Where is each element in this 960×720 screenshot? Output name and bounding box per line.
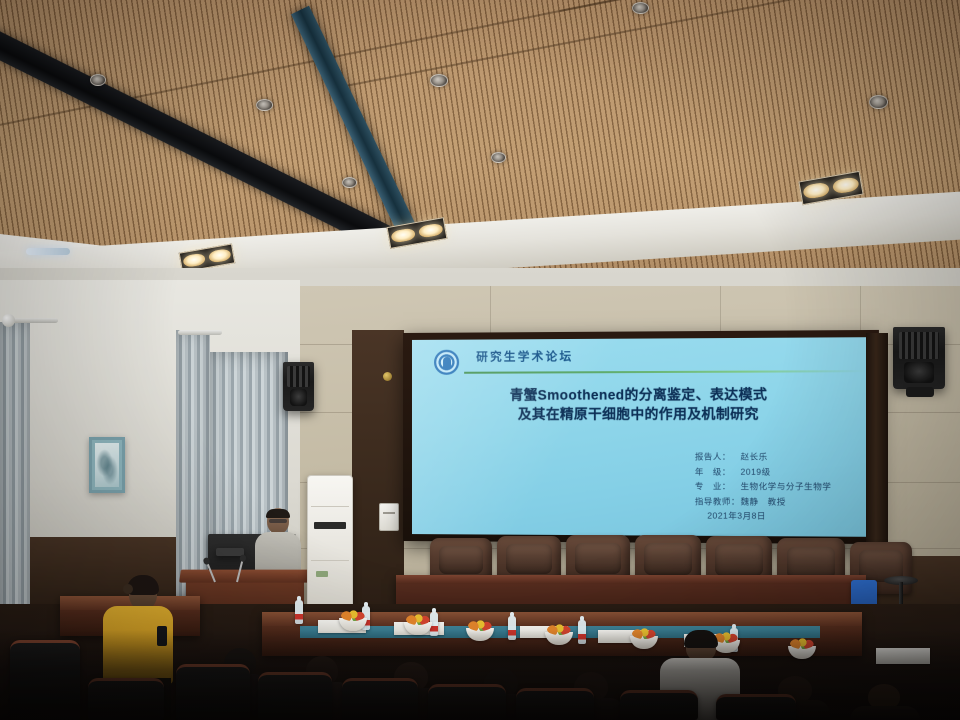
speaker-grill xyxy=(287,366,311,388)
slide-metadata: 报告人：赵长乐 年 级：2019级 专 业：生物化学与分子生物学 指导教师：魏静… xyxy=(695,450,832,525)
wood-slat-ceiling xyxy=(0,0,960,300)
slide-title-line2: 及其在精原干细胞中的作用及机制研究 xyxy=(412,404,869,424)
meta-label-presenter: 报告人： xyxy=(695,450,741,465)
curtain-left xyxy=(0,322,30,622)
wall-sconce-icon xyxy=(383,372,392,381)
audience-chair[interactable] xyxy=(428,684,506,720)
attendee xyxy=(850,684,920,720)
meta-value-presenter: 赵长乐 xyxy=(741,452,768,461)
meta-label-grade: 年 级： xyxy=(695,465,741,480)
soffit-striplight xyxy=(26,248,70,255)
ac-seam xyxy=(311,506,350,507)
downlight-icon xyxy=(491,152,506,163)
wall-speaker-right xyxy=(893,327,945,389)
slide-title: 青蟹Smoothened的分离鉴定、表达模式 及其在精原干细胞中的作用及机制研究 xyxy=(412,385,869,424)
spot-lamp xyxy=(832,176,859,194)
podium-ledge xyxy=(179,570,311,583)
downlight-icon xyxy=(90,74,106,86)
smartphone-icon xyxy=(157,626,167,646)
spot-lamp xyxy=(803,181,830,199)
presenter-hair xyxy=(266,509,290,518)
ac-badge xyxy=(316,571,328,577)
meta-label-major: 专 业： xyxy=(695,480,741,495)
head-table-top-edge xyxy=(396,575,866,584)
speaker-mount-bracket xyxy=(906,387,934,397)
presenter-glasses-icon xyxy=(269,519,287,523)
downlight-icon xyxy=(632,2,649,14)
audience-chair[interactable] xyxy=(176,664,250,720)
ac-vent xyxy=(314,522,346,529)
speaker-grill xyxy=(899,332,939,359)
audience-chair[interactable] xyxy=(716,694,796,720)
downlight-icon xyxy=(342,177,357,188)
speaker-woofer xyxy=(904,362,933,383)
spot-lamp xyxy=(418,222,443,239)
audience-chair[interactable] xyxy=(258,672,332,720)
meta-value-grade: 2019级 xyxy=(741,467,771,476)
spot-lamp xyxy=(182,253,205,268)
downlight-icon xyxy=(430,74,448,87)
meta-row-major: 专 业：生物化学与分子生物学 xyxy=(695,480,832,495)
downlight-icon xyxy=(256,99,273,111)
water-bottle xyxy=(508,616,516,640)
forum-title: 研究生学术论坛 xyxy=(476,348,573,365)
slide-title-line1: 青蟹Smoothened的分离鉴定、表达模式 xyxy=(412,385,869,405)
meta-value-major: 生物化学与分子生物学 xyxy=(741,482,832,491)
picture-artwork xyxy=(95,443,119,487)
wall-control-panel[interactable] xyxy=(379,503,399,531)
audience-chair[interactable] xyxy=(10,640,80,720)
air-conditioner-unit xyxy=(307,475,353,613)
audience-chair[interactable] xyxy=(620,690,698,720)
water-bottle xyxy=(295,600,303,624)
university-emblem-icon xyxy=(434,350,459,375)
downlight-icon xyxy=(869,95,888,109)
hair-bun xyxy=(123,584,133,594)
audience-chair[interactable] xyxy=(88,678,164,720)
projection-screen-frame: 研究生学术论坛 青蟹Smoothened的分离鉴定、表达模式 及其在精原干细胞中… xyxy=(403,330,879,544)
meta-value-advisor: 魏静 教授 xyxy=(741,497,786,506)
meta-row-presenter: 报告人：赵长乐 xyxy=(695,450,832,465)
audience-chair[interactable] xyxy=(516,688,594,720)
header-divider xyxy=(464,370,866,373)
document-paper xyxy=(876,648,930,664)
attendee-body xyxy=(850,706,920,720)
slide-header: 研究生学术论坛 xyxy=(412,343,869,380)
spot-lamp xyxy=(208,248,231,263)
water-bottle xyxy=(578,620,586,644)
spot-lamp xyxy=(391,227,416,244)
audience-chair[interactable] xyxy=(342,678,418,720)
framed-picture xyxy=(89,437,125,493)
meta-row-advisor: 指导教师：魏静 教授 xyxy=(695,495,832,510)
meta-label-advisor: 指导教师： xyxy=(695,495,741,510)
control-panel-slot xyxy=(383,512,395,514)
curtain-rod xyxy=(178,330,222,335)
speaker-woofer xyxy=(290,389,307,406)
wall-speaker-left xyxy=(283,362,314,411)
projection-screen: 研究生学术论坛 青蟹Smoothened的分离鉴定、表达模式 及其在精原干细胞中… xyxy=(412,337,869,537)
conference-hall-photo: 研究生学术论坛 青蟹Smoothened的分离鉴定、表达模式 及其在精原干细胞中… xyxy=(0,0,960,720)
ac-seam xyxy=(311,560,350,561)
screen-right-pillar xyxy=(866,333,888,548)
curtain-rod-knob xyxy=(2,314,15,327)
attendee-hair xyxy=(684,630,718,648)
meta-row-grade: 年 级：2019级 xyxy=(695,465,832,480)
slide-date: 2021年3月8日 xyxy=(695,509,832,524)
